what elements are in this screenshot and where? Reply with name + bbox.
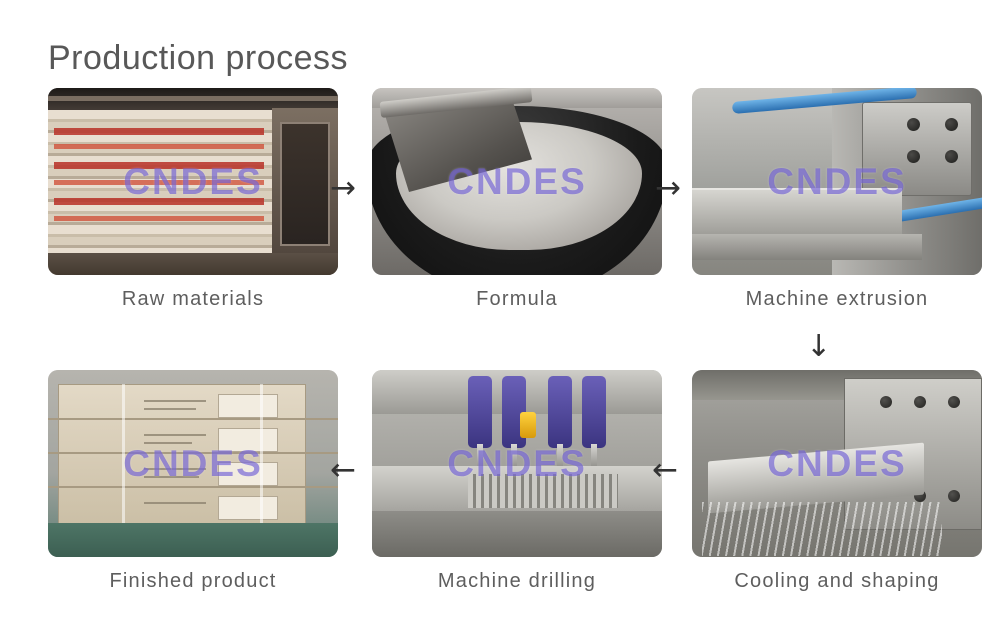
arrow-left-2: ← bbox=[652, 455, 678, 486]
arrow-down-1: ↓ bbox=[806, 332, 831, 362]
cooling-tank-photo bbox=[692, 370, 982, 557]
step-machine-drilling[interactable]: CNDES Machine drilling bbox=[372, 370, 662, 593]
step-finished-product-image: CNDES bbox=[48, 370, 338, 557]
process-row-top: CNDES Raw materials → CNDES Formula → bbox=[0, 88, 1000, 328]
packaged-boxes-photo bbox=[48, 370, 338, 557]
warehouse-sacks-photo bbox=[48, 88, 338, 275]
arrow-right-2: → bbox=[655, 173, 681, 204]
step-raw-materials-image: CNDES bbox=[48, 88, 338, 275]
step-machine-extrusion-caption: Machine extrusion bbox=[692, 288, 982, 311]
step-formula[interactable]: CNDES Formula bbox=[372, 88, 662, 311]
arrow-right-1: → bbox=[330, 173, 356, 204]
step-formula-image: CNDES bbox=[372, 88, 662, 275]
step-raw-materials-caption: Raw materials bbox=[48, 288, 338, 311]
step-machine-extrusion-image: CNDES bbox=[692, 88, 982, 275]
step-cooling-shaping[interactable]: CNDES Cooling and shaping bbox=[692, 370, 982, 593]
process-flow-diagram: CNDES Raw materials → CNDES Formula → bbox=[0, 88, 1000, 610]
step-formula-caption: Formula bbox=[372, 288, 662, 311]
drilling-machine-photo bbox=[372, 370, 662, 557]
step-raw-materials[interactable]: CNDES Raw materials bbox=[48, 88, 338, 311]
step-machine-drilling-caption: Machine drilling bbox=[372, 570, 662, 593]
extruder-photo bbox=[692, 88, 982, 275]
step-cooling-shaping-caption: Cooling and shaping bbox=[692, 570, 982, 593]
process-row-bottom: CNDES Finished product ← bbox=[0, 370, 1000, 610]
step-machine-extrusion[interactable]: CNDES Machine extrusion bbox=[692, 88, 982, 311]
powder-mixer-photo bbox=[372, 88, 662, 275]
step-cooling-shaping-image: CNDES bbox=[692, 370, 982, 557]
step-finished-product[interactable]: CNDES Finished product bbox=[48, 370, 338, 593]
arrow-left-1: ← bbox=[330, 455, 356, 486]
step-machine-drilling-image: CNDES bbox=[372, 370, 662, 557]
step-finished-product-caption: Finished product bbox=[48, 570, 338, 593]
page-title: Production process bbox=[48, 39, 348, 78]
